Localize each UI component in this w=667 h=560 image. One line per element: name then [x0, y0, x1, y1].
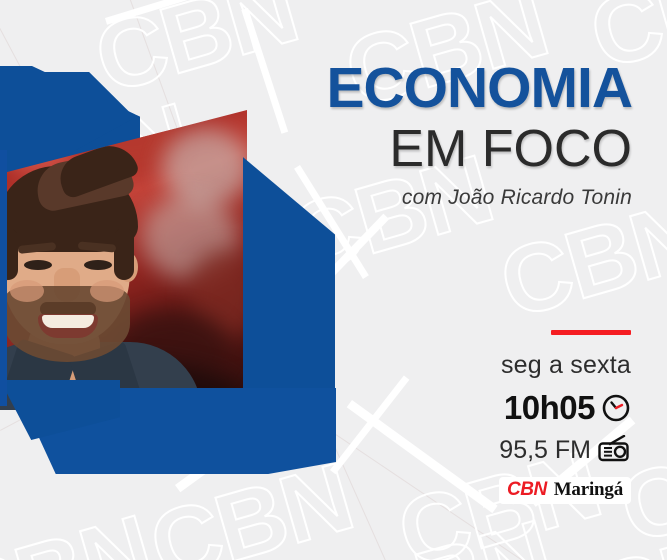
promo-card: CBN CBN CBN CBN CBN CBN CBN CBN CBN CBN … — [0, 0, 667, 560]
station-logo-row: CBN Maringá — [499, 477, 631, 504]
watermark-cbn: CBN — [339, 499, 563, 560]
clock-icon — [601, 393, 631, 423]
host-sideburn — [114, 228, 134, 280]
station-logo: CBN Maringá — [499, 477, 631, 504]
red-accent-bar — [551, 330, 631, 335]
schedule-time-row: 10h05 — [499, 391, 631, 424]
watermark-cbn: CBN — [584, 494, 667, 560]
host-cheek — [10, 280, 44, 302]
backdrop-blotch — [162, 128, 247, 206]
box-right-face — [243, 152, 335, 410]
host-eye — [24, 260, 52, 270]
deco-stroke — [347, 400, 498, 513]
schedule-block: seg a sexta 10h05 95,5 FM — [499, 330, 631, 504]
host-eye — [84, 260, 112, 270]
host-cheek — [90, 280, 124, 302]
schedule-time: 10h05 — [504, 391, 595, 424]
host-teeth — [42, 315, 94, 328]
title-em-foco: EM FOCO — [327, 123, 633, 175]
schedule-frequency: 95,5 FM — [499, 438, 591, 463]
schedule-frequency-row: 95,5 FM — [499, 435, 631, 465]
program-title-block: ECONOMIA EM FOCO com João Ricardo Tonin — [327, 60, 633, 208]
logo-cbn-text: CBN — [507, 479, 547, 501]
box-left-edge — [0, 150, 7, 406]
schedule-days: seg a sexta — [499, 353, 631, 378]
radio-icon — [597, 435, 631, 465]
logo-city-text: Maringá — [554, 479, 623, 501]
host-photo-box — [0, 0, 350, 480]
watermark-cbn: CBN — [0, 494, 163, 560]
title-economia: ECONOMIA — [327, 60, 633, 117]
host-credit: com João Ricardo Tonin — [327, 187, 633, 208]
